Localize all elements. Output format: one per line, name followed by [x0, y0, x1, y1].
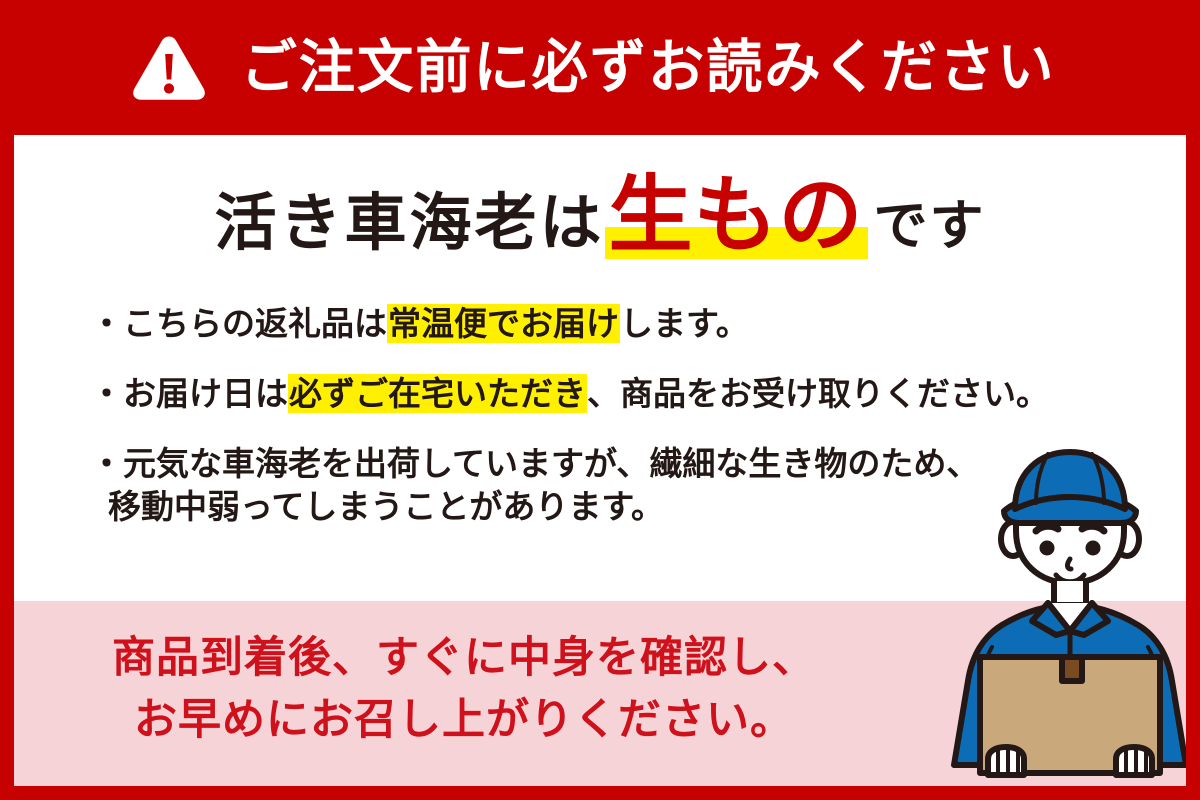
bullet-text: こちらの返礼品は	[123, 305, 387, 342]
bullet-text: します。	[620, 305, 749, 342]
bullet-marker: ・	[90, 445, 123, 482]
bullet-highlight: 常温便でお届け	[387, 304, 620, 343]
main-title: 活き車海老は生ものです	[14, 173, 1186, 257]
eye-right	[1086, 541, 1101, 556]
bullet-highlight: 必ずご在宅いただき	[288, 374, 587, 413]
bottom-message-line-2: お早めにお召し上がりください。	[14, 689, 914, 751]
list-item: ・元気な車海老を出荷していますが、繊細な生き物のため、	[90, 443, 1090, 485]
eye-left	[1040, 541, 1055, 556]
bullet-list: ・こちらの返礼品は常温便でお届けします。 ・お届け日は必ずご在宅いただき、商品を…	[90, 303, 1090, 556]
notice-banner: ご注文前に必ずお読みください 活き車海老は生ものです ・こちらの返礼品は常温便で…	[0, 0, 1200, 800]
notice-card: 活き車海老は生ものです ・こちらの返礼品は常温便でお届けします。 ・お届け日は必…	[14, 135, 1186, 786]
main-title-suffix: です	[874, 196, 986, 256]
neck	[1054, 581, 1086, 605]
main-title-prefix: 活き車海老は	[214, 189, 604, 258]
banner-header: ご注文前に必ずお読みください	[0, 0, 1200, 135]
delivery-person-illustration	[944, 435, 1186, 786]
bottom-message: 商品到着後、すぐに中身を確認し、 お早めにお召し上がりください。	[14, 627, 914, 752]
bullet-text: 、商品をお受け取りください。	[587, 375, 1049, 412]
main-title-emphasis-highlight: 生もの	[609, 173, 864, 257]
bullet-marker: ・	[90, 375, 123, 412]
bullet-text: お届け日は	[123, 375, 288, 412]
header-title: ご注文前に必ずお読みください	[241, 39, 1056, 97]
warning-triangle-icon	[132, 34, 206, 102]
list-item-continuation: 移動中弱ってしまうことがあります。	[90, 486, 1090, 528]
main-title-emphasis: 生もの	[609, 168, 864, 262]
list-item: ・お届け日は必ずご在宅いただき、商品をお受け取りください。	[90, 373, 1090, 415]
list-item: ・こちらの返礼品は常温便でお届けします。	[90, 303, 1090, 345]
bullet-marker: ・	[90, 305, 123, 342]
bullet-text: 元気な車海老を出荷していますが、繊細な生き物のため、	[123, 445, 979, 482]
box-tape	[1062, 657, 1082, 681]
bottom-message-line-1: 商品到着後、すぐに中身を確認し、	[14, 627, 914, 689]
